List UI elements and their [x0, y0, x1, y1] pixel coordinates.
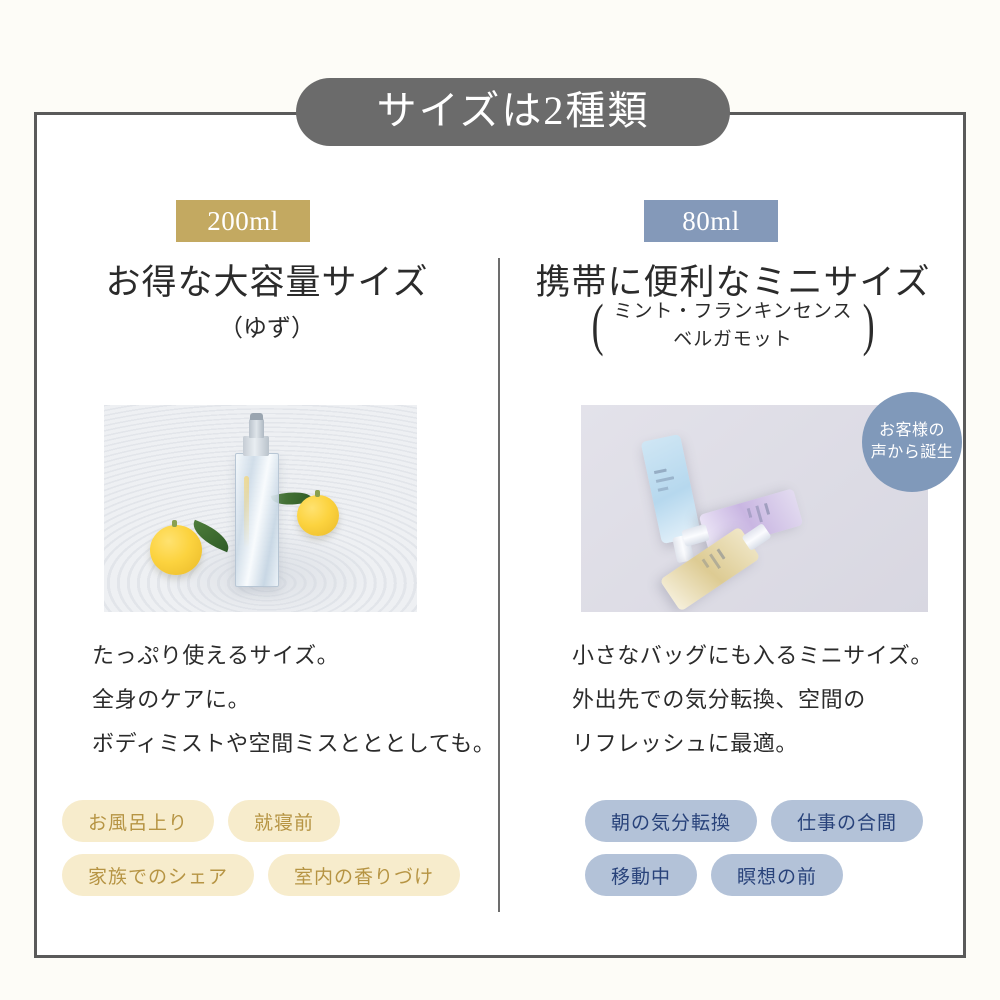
size-badge-200ml: 200ml: [176, 200, 310, 242]
subtitle-80ml: ( ミント・フランキンセンス ベルガモット ): [500, 298, 966, 353]
spray-bottle-200ml: [235, 453, 279, 587]
tag-pill[interactable]: お風呂上り: [62, 800, 214, 842]
stem-icon: [315, 490, 320, 497]
size-badge-80ml: 80ml: [644, 200, 778, 242]
bottle-nozzle: [249, 418, 264, 438]
close-paren: ): [862, 299, 874, 351]
yuzu-fruit: [150, 525, 202, 575]
open-paren: (: [592, 299, 604, 351]
heading-200ml: お得な大容量サイズ: [34, 254, 500, 305]
column-80ml: 80ml 携帯に便利なミニサイズ ( ミント・フランキンセンス ベルガモット ): [500, 112, 966, 958]
tag-pill[interactable]: 就寝前: [228, 800, 340, 842]
customer-voice-badge: お客様の 声から誕生: [862, 392, 962, 492]
scent-list: ミント・フランキンセンス ベルガモット: [613, 298, 852, 353]
voice-badge-line2: 声から誕生: [871, 442, 954, 464]
scent-line: ミント・フランキンセンス: [613, 298, 852, 326]
column-divider: [498, 258, 500, 912]
body-line: たっぷり使えるサイズ。: [92, 634, 496, 678]
bottle-tip: [250, 413, 263, 420]
tag-pill[interactable]: 家族でのシェア: [62, 854, 254, 896]
page-title: サイズは2種類: [377, 91, 650, 134]
voice-badge-line1: お客様の: [879, 420, 945, 442]
tag-pill[interactable]: 移動中: [585, 854, 697, 896]
subtitle-200ml: （ゆず）: [34, 308, 500, 343]
body-line: リフレッシュに最適。: [572, 722, 933, 766]
yuzu-fruit: [297, 495, 339, 536]
body-line: 小さなバッグにも入るミニサイズ。: [572, 634, 933, 678]
stem-icon: [172, 520, 177, 527]
body-line: 全身のケアに。: [92, 678, 496, 722]
size-badge-label: 200ml: [207, 206, 279, 237]
body-copy-200ml: たっぷり使えるサイズ。 全身のケアに。 ボディミストや空間ミスとととしても。: [92, 634, 496, 766]
scent-line: ベルガモット: [613, 326, 852, 354]
size-badge-label: 80ml: [682, 206, 740, 237]
product-photo-200ml: [104, 405, 417, 612]
bottle-collar: [243, 436, 269, 456]
tag-pill[interactable]: 仕事の合間: [771, 800, 923, 842]
body-copy-80ml: 小さなバッグにも入るミニサイズ。 外出先での気分転換、空間の リフレッシュに最適…: [572, 634, 933, 766]
tag-list-80ml: 朝の気分転換 仕事の合間 移動中 瞑想の前: [585, 800, 985, 896]
tag-pill[interactable]: 室内の香りづけ: [268, 854, 460, 896]
tag-pill[interactable]: 瞑想の前: [711, 854, 843, 896]
body-line: 外出先での気分転換、空間の: [572, 678, 933, 722]
body-line: ボディミストや空間ミスとととしても。: [92, 722, 496, 766]
comparison-columns: 200ml お得な大容量サイズ （ゆず） たっぷり使えるサイズ。 全身のケアに。…: [34, 112, 966, 958]
column-200ml: 200ml お得な大容量サイズ （ゆず） たっぷり使えるサイズ。 全身のケアに。…: [34, 112, 500, 958]
tag-pill[interactable]: 朝の気分転換: [585, 800, 757, 842]
tag-list-200ml: お風呂上り 就寝前 家族でのシェア 室内の香りづけ: [62, 800, 482, 896]
title-banner: サイズは2種類: [296, 78, 730, 146]
